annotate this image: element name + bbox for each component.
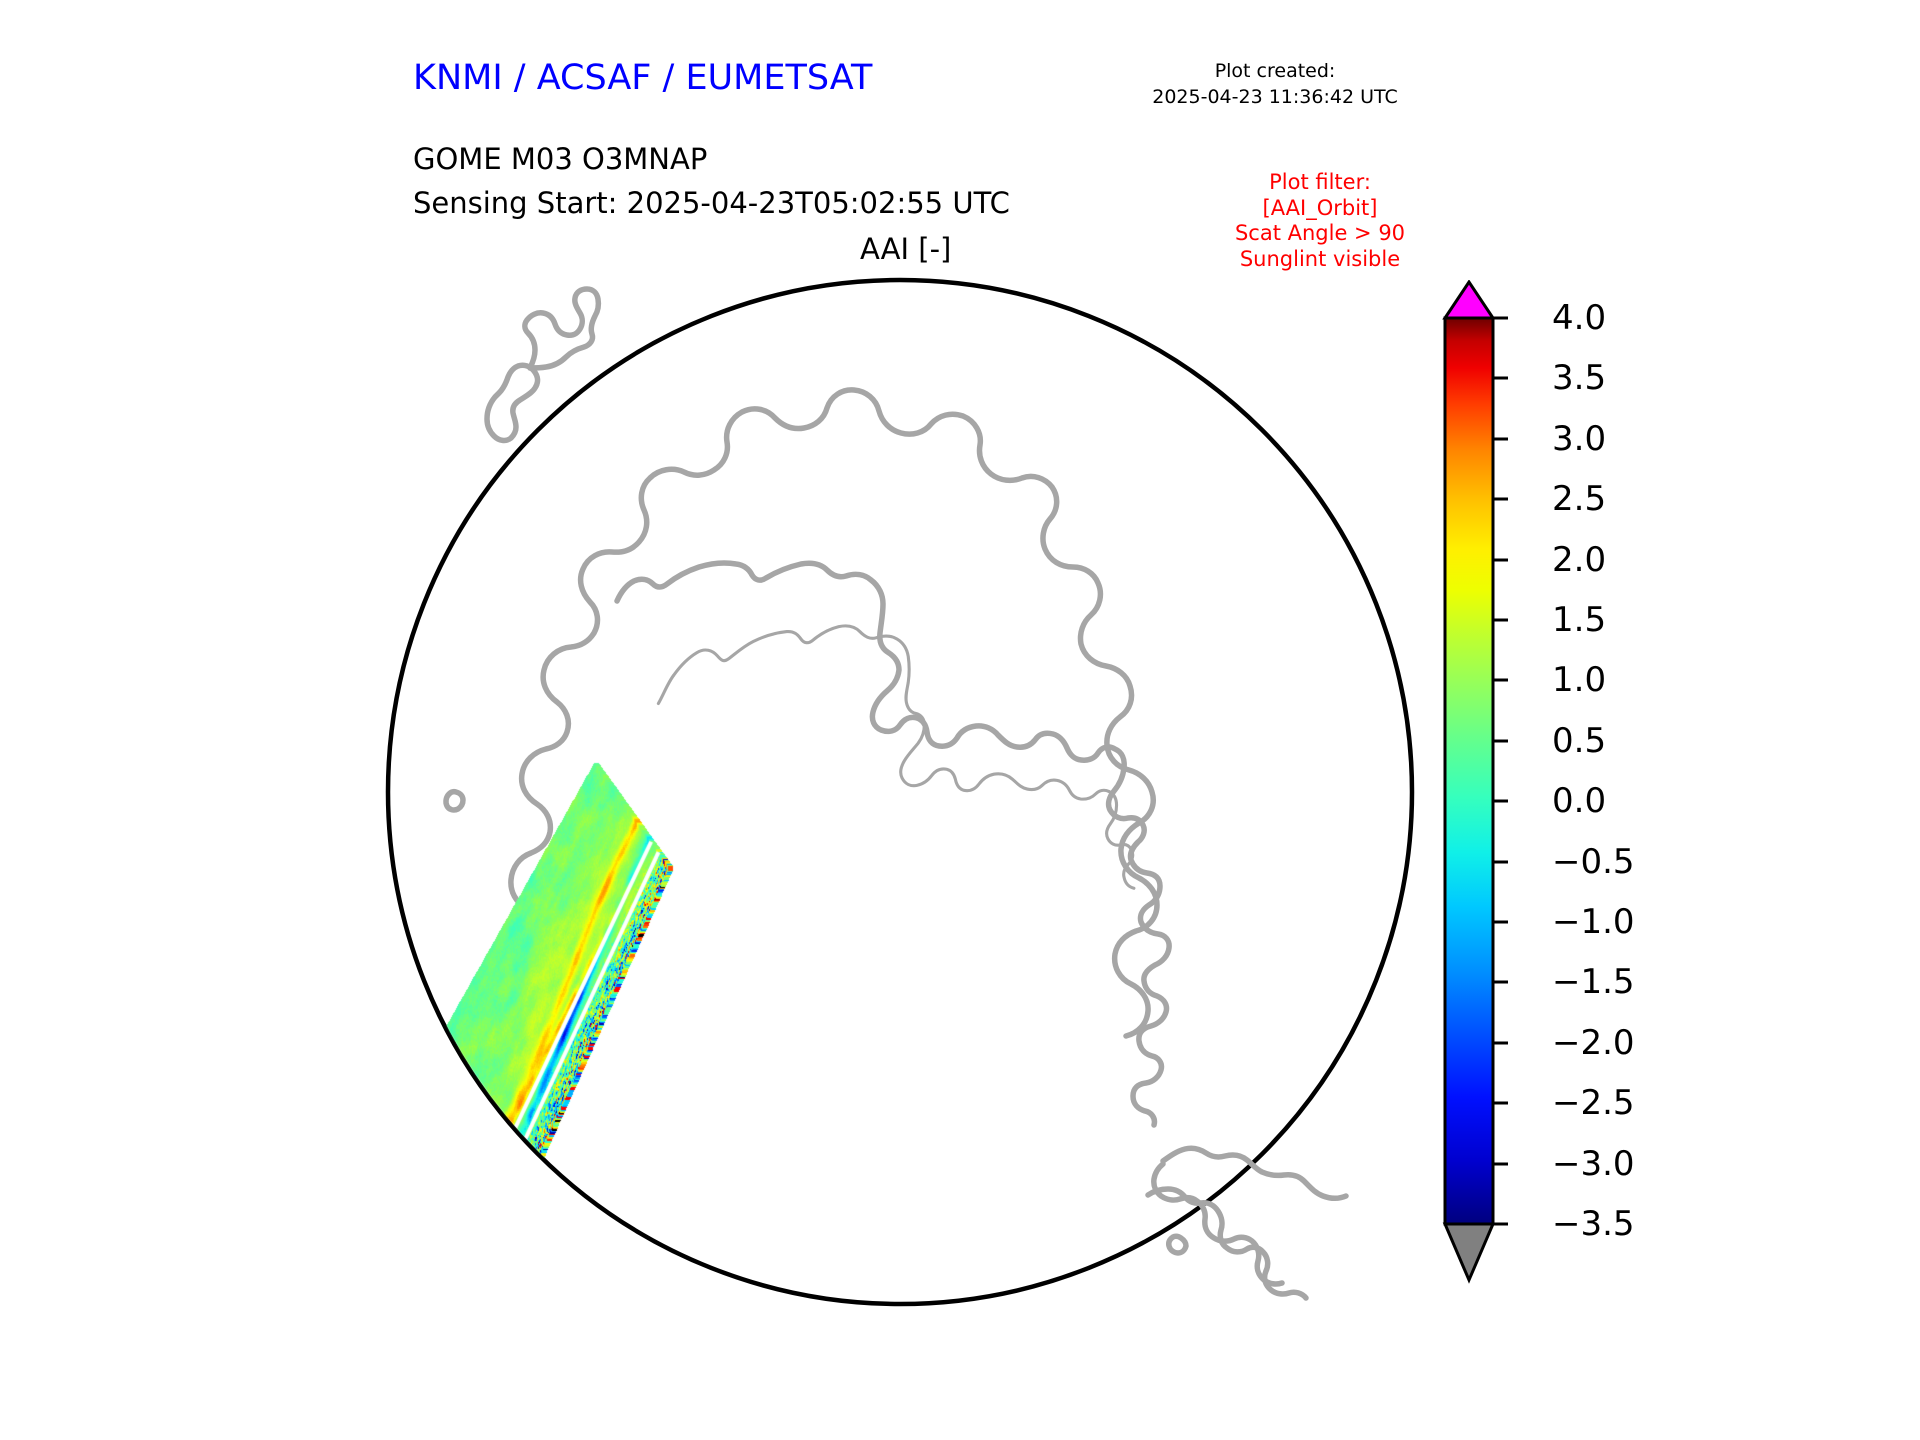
colorbar-tick-label: −0.5 <box>1552 845 1635 879</box>
colorbar-bar <box>1445 318 1493 1224</box>
colorbar-tick-label: 0.0 <box>1552 784 1606 818</box>
new-zealand-south-island <box>487 365 538 440</box>
colorbar-tick-label: −1.0 <box>1552 905 1635 939</box>
plot-filter-line-1: [AAI_Orbit] <box>1190 196 1450 222</box>
plot-created-block: Plot created: 2025-04-23 11:36:42 UTC <box>1100 58 1450 110</box>
colorbar-tick-label: 3.0 <box>1552 422 1606 456</box>
colorbar-tick-label: 0.5 <box>1552 724 1606 758</box>
colorbar-gradient <box>1438 280 1508 1300</box>
colorbar-under-arrow <box>1445 1224 1493 1280</box>
new-zealand-north-island <box>525 289 599 368</box>
colorbar-tick-label: 1.5 <box>1552 603 1606 637</box>
colorbar-ticks <box>1493 318 1508 1224</box>
plot-created-label: Plot created: <box>1100 58 1450 84</box>
colorbar-tick-label: 1.0 <box>1552 663 1606 697</box>
colorbar-tick-label: 2.5 <box>1552 482 1606 516</box>
colorbar-tick-label: 2.0 <box>1552 543 1606 577</box>
colorbar[interactable]: 4.03.53.02.52.01.51.00.50.0−0.5−1.0−1.5−… <box>1438 280 1858 1300</box>
plot-filter-block: Plot filter: [AAI_Orbit] Scat Angle > 90… <box>1190 170 1450 272</box>
product-title: GOME M03 O3MNAP <box>413 142 707 176</box>
plot-created-timestamp: 2025-04-23 11:36:42 UTC <box>1100 84 1450 110</box>
map-vector-layer <box>380 272 1420 1312</box>
colorbar-tick-label: −3.5 <box>1552 1207 1635 1241</box>
page-title: AAI [-] <box>860 232 951 266</box>
colorbar-tick-label: 4.0 <box>1552 301 1606 335</box>
plot-page: KNMI / ACSAF / EUMETSAT Plot created: 20… <box>0 0 1920 1440</box>
colorbar-tick-label: 3.5 <box>1552 361 1606 395</box>
colorbar-tick-label: −3.0 <box>1552 1147 1635 1181</box>
colorbar-tick-labels: 4.03.53.02.52.01.51.00.50.0−0.5−1.0−1.5−… <box>1510 280 1710 1300</box>
colorbar-tick-label: −1.5 <box>1552 965 1635 999</box>
plot-filter-line-2: Scat Angle > 90 <box>1190 221 1450 247</box>
colorbar-over-arrow <box>1445 282 1493 318</box>
map-canvas-area[interactable] <box>380 272 1420 1312</box>
sensing-start-text: Sensing Start: 2025-04-23T05:02:55 UTC <box>413 186 1010 220</box>
plot-filter-line-0: Plot filter: <box>1190 170 1450 196</box>
agency-title: KNMI / ACSAF / EUMETSAT <box>413 58 872 98</box>
colorbar-tick-label: −2.5 <box>1552 1086 1635 1120</box>
colorbar-tick-label: −2.0 <box>1552 1026 1635 1060</box>
plot-filter-line-3: Sunglint visible <box>1190 247 1450 273</box>
